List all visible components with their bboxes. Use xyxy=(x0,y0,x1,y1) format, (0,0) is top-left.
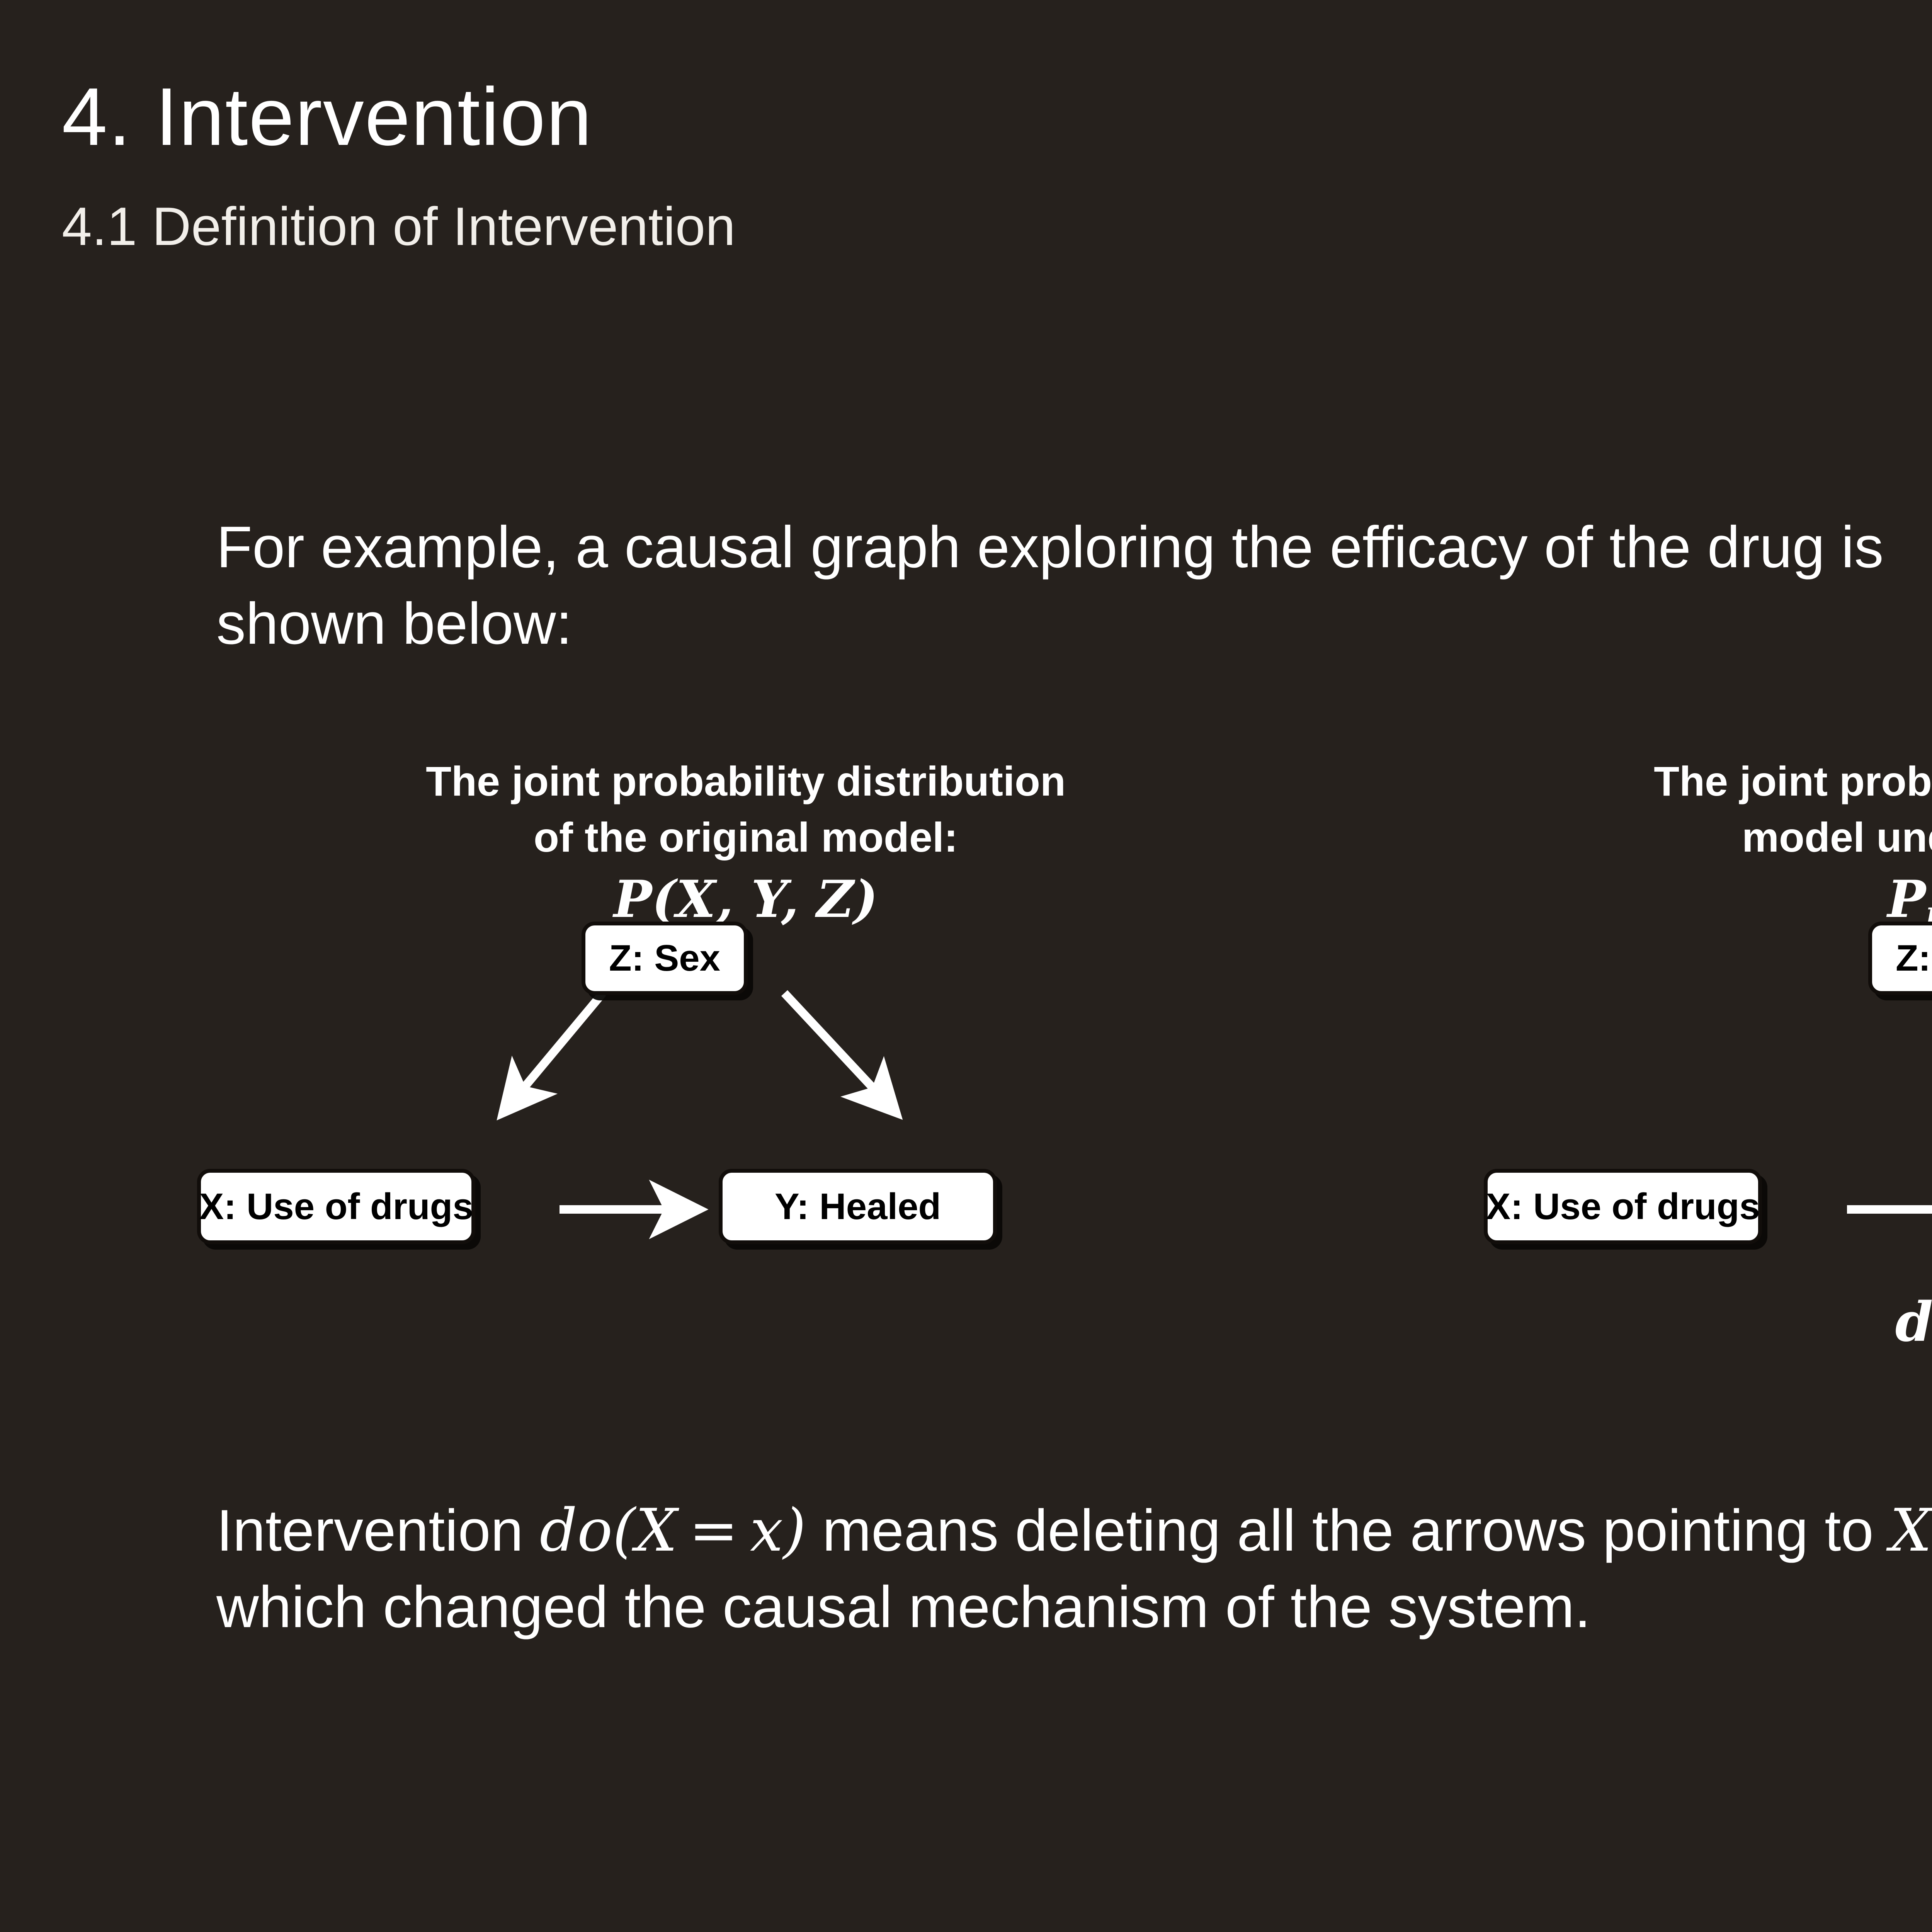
conclusion-line-1: Intervention do(X = x) means deleting al… xyxy=(216,1492,1932,1569)
slide: 4. Intervention 4.1 Definition of Interv… xyxy=(0,0,1932,1932)
intro-paragraph: For example, a causal graph exploring th… xyxy=(216,509,1932,662)
conclusion-paragraph: Intervention do(X = x) means deleting al… xyxy=(216,1492,1932,1645)
conclusion-do-math: do(X = x) xyxy=(540,1496,806,1565)
conclusion-mid: means deleting all the arrows pointing t… xyxy=(806,1498,1890,1563)
caption-line-2: of the original model: xyxy=(534,814,958,861)
diagram-caption-original: The joint probability distribution of th… xyxy=(166,753,1325,930)
node-label: Y: Healed xyxy=(775,1185,941,1228)
intro-line-1: For example, a causal graph exploring th… xyxy=(216,509,1932,586)
diagram-original-model: The joint probability distribution of th… xyxy=(166,753,1325,1333)
node-z-intervened[interactable]: Z: Sex xyxy=(1868,922,1932,995)
conclusion-var-x: X xyxy=(1890,1496,1932,1565)
node-label: X: Use of drugs xyxy=(1486,1185,1760,1228)
do-operator-label: do(X = x) xyxy=(1453,1291,1932,1354)
diagram-caption-intervened: The joint probability distribution of th… xyxy=(1453,753,1932,932)
node-x-intervened[interactable]: X: Use of drugs xyxy=(1484,1169,1762,1244)
node-label: X: Use of drugs xyxy=(199,1185,473,1228)
conclusion-pre: Intervention xyxy=(216,1498,540,1563)
intro-line-2: shown below: xyxy=(216,586,1932,662)
conclusion-line-2: which changed the causal mechanism of th… xyxy=(216,1569,1932,1646)
node-x-original[interactable]: X: Use of drugs xyxy=(197,1169,475,1244)
node-z-original[interactable]: Z: Sex xyxy=(582,922,748,995)
node-y-original[interactable]: Y: Healed xyxy=(719,1169,997,1244)
causal-graph-intervened: Z: Sex X: Use of drugs Y: Healed xyxy=(1453,916,1932,1275)
caption-line-1: The joint probability distribution xyxy=(426,758,1066,804)
caption-line-2: model under the intervention: xyxy=(1742,814,1932,861)
causal-graph-original: Z: Sex X: Use of drugs Y: Healed xyxy=(166,916,1325,1275)
page-title: 4. Intervention xyxy=(62,70,593,164)
caption-line-1: The joint probability distribution of th… xyxy=(1654,758,1932,804)
node-label: Z: Sex xyxy=(609,937,720,980)
diagram-intervened-model: The joint probability distribution of th… xyxy=(1453,753,1932,1333)
page-subtitle: 4.1 Definition of Intervention xyxy=(62,195,735,258)
node-label: Z: Sex xyxy=(1896,937,1932,980)
